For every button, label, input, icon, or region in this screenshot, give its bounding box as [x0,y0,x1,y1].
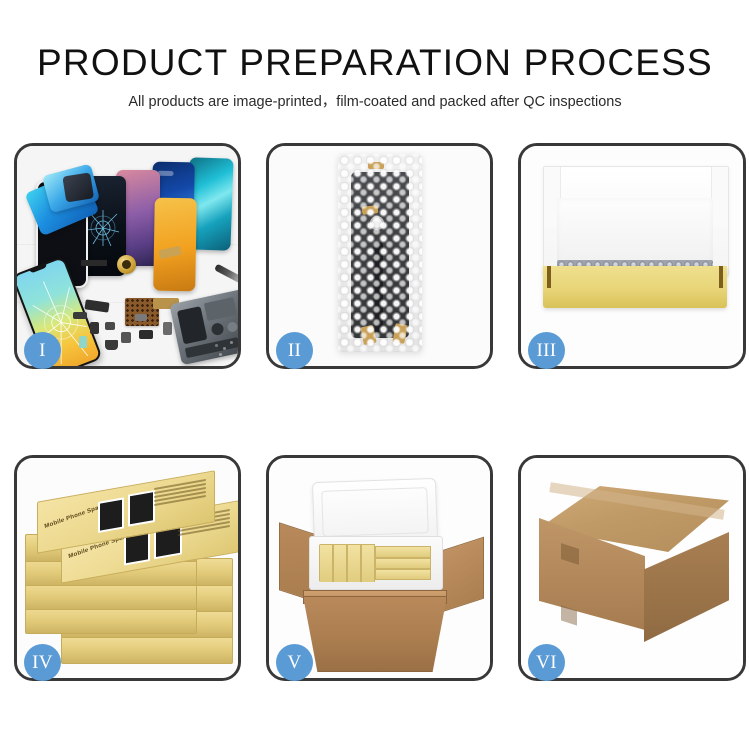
small-part-4 [139,330,153,339]
screws [215,344,218,347]
step-badge-4: IV [24,644,61,681]
step-card-4: Mobile Phone Spare Parts Mobile Phone Sp… [14,455,241,681]
small-part-2 [105,322,115,330]
black-bar-part [81,260,107,266]
box-stack: Mobile Phone Spare Parts Mobile Phone Sp… [25,486,237,656]
step-badge-2: II [276,332,313,369]
step-card-1: I [14,143,241,369]
tweezers-tool [214,264,238,292]
step-badge-3: III [528,332,565,369]
small-part-7 [105,340,118,350]
small-part-1 [90,322,99,334]
step-badge-6: VI [528,644,565,681]
header: PRODUCT PREPARATION PROCESS All products… [0,0,750,110]
process-steps-grid: I II [14,143,746,681]
step-card-5: V [266,455,493,681]
carton-body [303,596,447,672]
small-part-3 [121,332,131,343]
phone-amber [153,198,197,292]
product-preparation-infographic: PRODUCT PREPARATION PROCESS All products… [0,0,750,750]
step-card-2: II [266,143,493,369]
box-feature-lines-2 [154,479,206,508]
page-title: PRODUCT PREPARATION PROCESS [0,0,750,81]
step-badge-5: V [276,644,313,681]
packed-yellow-boxes [319,544,431,582]
bubble-wrap-bag [338,154,422,352]
page-subtitle: All products are image-printed，film-coat… [0,81,750,110]
small-part-6 [79,336,87,348]
step-badge-1: I [24,332,61,369]
yellow-box-base [543,266,727,308]
small-part-5 [163,322,172,335]
step-card-6: VI [518,455,746,681]
flex-cable-3 [84,299,109,312]
phone-back-housing [169,289,238,365]
small-part-8 [135,314,147,321]
step-card-3: III [518,143,746,369]
speaker-part [117,255,136,274]
small-part-9 [73,312,87,319]
